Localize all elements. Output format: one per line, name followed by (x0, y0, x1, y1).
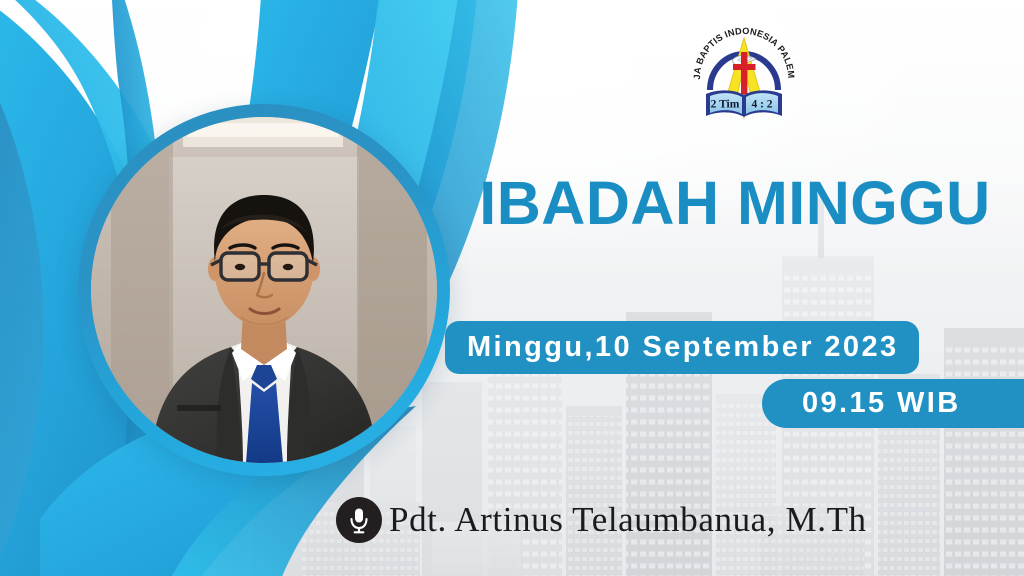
logo-verse-left: 2 Tim (711, 99, 740, 111)
speaker-portrait-ring (78, 104, 450, 476)
speaker-line: Pdt. Artinus Telaumbanua, M.Th (336, 497, 867, 543)
microphone-icon (336, 497, 382, 543)
service-time-banner: 09.15 WIB (762, 379, 1024, 428)
sunday-service-poster: GEREJA BAPTIS INDONESIA PALEMBANG 2 Tim … (0, 0, 1024, 576)
service-date-banner: Minggu,10 September 2023 (445, 321, 919, 374)
church-logo: GEREJA BAPTIS INDONESIA PALEMBANG 2 Tim … (688, 12, 800, 130)
logo-verse-right: 4 : 2 (751, 99, 772, 111)
speaker-name: Pdt. Artinus Telaumbanua, M.Th (389, 500, 867, 540)
page-title: IBADAH MINGGU (455, 173, 1015, 234)
avatar (91, 117, 437, 463)
portrait-photo (91, 117, 437, 463)
